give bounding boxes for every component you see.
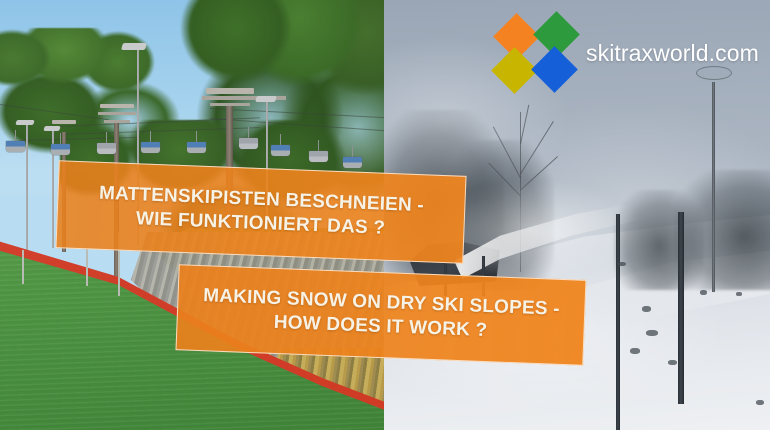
snow-debris (646, 330, 658, 336)
lift-tower-head (206, 88, 254, 94)
caption-banner-german: MATTENSKIPISTEN BESCHNEIEN - WIE FUNKTIO… (55, 160, 466, 264)
site-logo[interactable]: skitraxworld.com (498, 18, 759, 88)
snow-debris (618, 262, 626, 266)
lift-tower-arm (98, 112, 136, 115)
lift-chair (271, 145, 290, 156)
yellow-diamond-icon (491, 47, 538, 94)
slope-post (86, 246, 88, 286)
image-canvas: skitraxworld.com MATTENSKIPISTEN BESCHNE… (0, 0, 770, 430)
snow-debris (756, 400, 764, 405)
snow-debris (736, 292, 742, 296)
lift-chair (309, 151, 328, 162)
lift-chair (6, 141, 25, 152)
lift-tower-arm (104, 120, 130, 123)
lift-tower-arm (210, 103, 250, 106)
lift-chair (141, 142, 160, 153)
snow-debris (630, 348, 640, 354)
lift-chair (51, 144, 70, 155)
lift-chair (343, 157, 362, 168)
floodlight-head (15, 120, 34, 125)
snow-debris (700, 290, 707, 295)
lift-chair (97, 143, 116, 154)
lift-chair (239, 138, 258, 149)
lift-chair (187, 142, 206, 153)
lift-tower-head (100, 104, 134, 108)
caption-banner-german-text: MATTENSKIPISTEN BESCHNEIEN - WIE FUNKTIO… (98, 182, 425, 243)
logo-diamond-group (498, 18, 574, 88)
brand-name: skitraxworld.com (586, 40, 759, 67)
lift-tower-head (52, 120, 76, 124)
blue-diamond-icon (531, 46, 578, 93)
slope-post (22, 250, 24, 284)
snow-debris (642, 306, 651, 312)
lift-tower-arm (202, 96, 258, 100)
caption-banner-english-text: MAKING SNOW ON DRY SKI SLOPES - HOW DOES… (202, 284, 560, 346)
floodlight-head (255, 96, 277, 102)
slope-pole (678, 212, 684, 404)
caption-banner-english: MAKING SNOW ON DRY SKI SLOPES - HOW DOES… (175, 264, 586, 366)
slope-pole (616, 214, 620, 430)
floodlight-pole (712, 82, 715, 292)
floodlight-pole (26, 122, 28, 262)
floodlight-head (121, 43, 147, 50)
floodlight-head (43, 126, 60, 131)
snow-debris (668, 360, 677, 365)
